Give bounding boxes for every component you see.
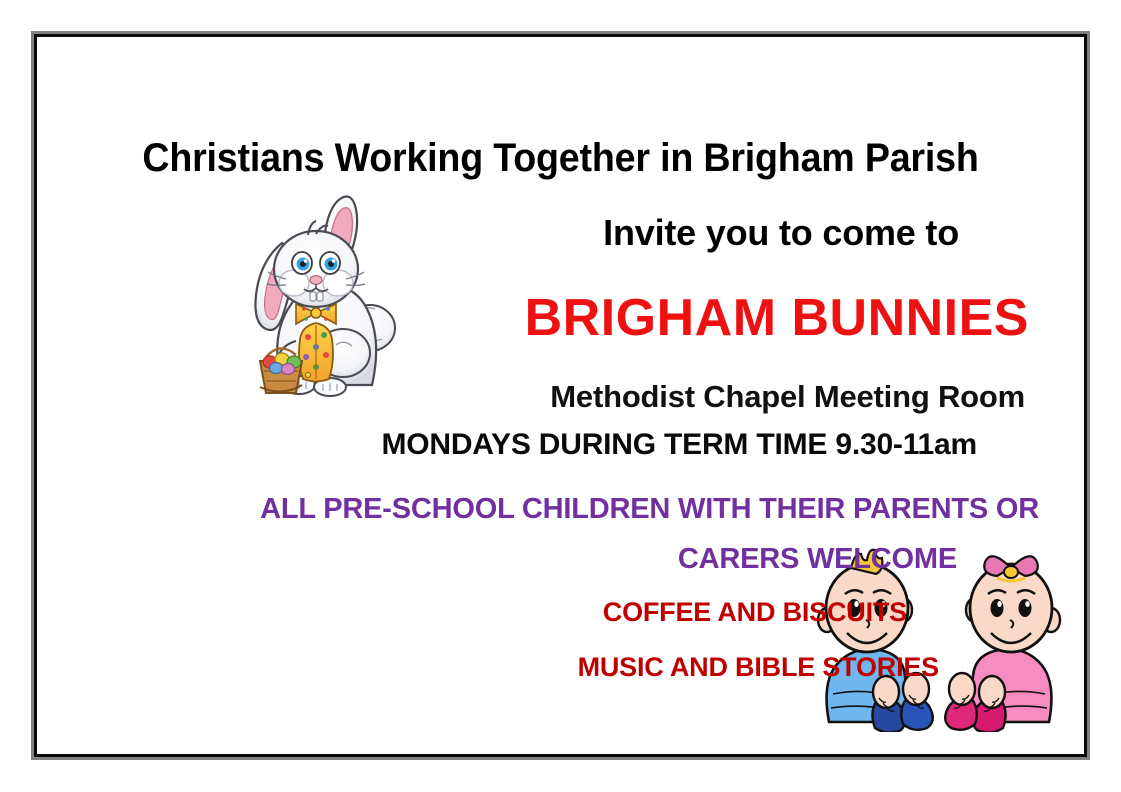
invitation-text: Invite you to come to [37, 215, 959, 251]
welcome-text-line-2: CARERS WELCOME [37, 545, 957, 574]
schedule-text: MONDAYS DURING TERM TIME 9.30-11am [37, 430, 977, 460]
refreshments-text: COFFEE AND BISCUITS [37, 599, 907, 626]
activities-text: MUSIC AND BIBLE STORIES [37, 654, 939, 681]
organisation-heading: Christians Working Together in Brigham P… [68, 138, 1052, 178]
welcome-text-line-1: ALL PRE-SCHOOL CHILDREN WITH THEIR PAREN… [37, 495, 1039, 524]
venue-text: Methodist Chapel Meeting Room [37, 381, 1025, 412]
poster-canvas: Christians Working Together in Brigham P… [0, 0, 1121, 792]
page-title: BRIGHAM BUNNIES [37, 292, 1029, 344]
poster-frame-outer: Christians Working Together in Brigham P… [31, 31, 1090, 760]
poster-frame-inner: Christians Working Together in Brigham P… [34, 34, 1087, 757]
